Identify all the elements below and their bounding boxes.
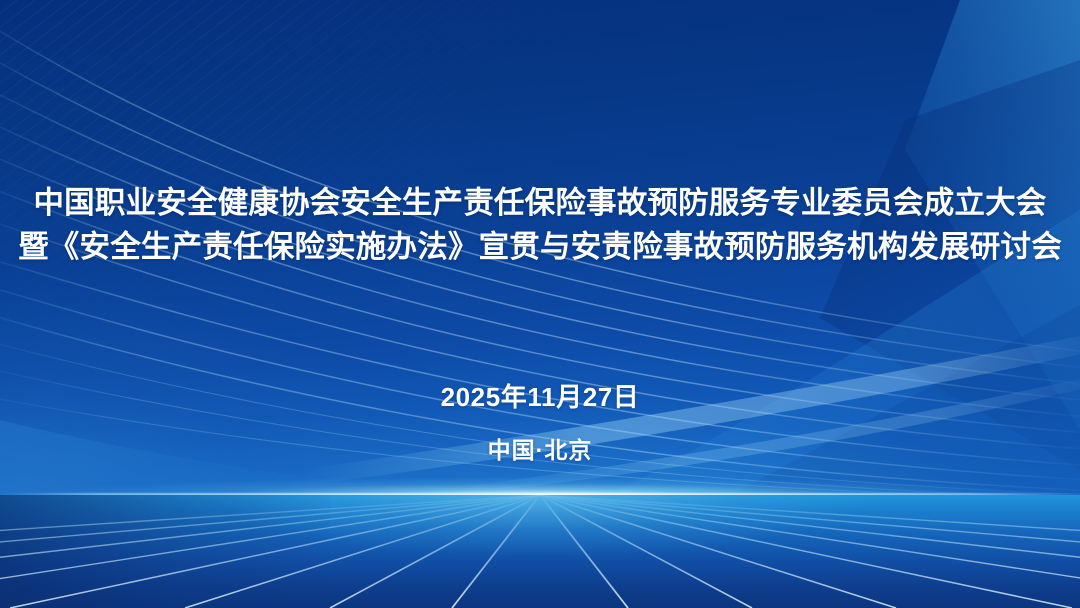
grid-radial-lines <box>0 495 1080 608</box>
perspective-grid <box>0 495 1080 608</box>
title-line-2: 暨《安全生产责任保险实施办法》宣贯与安责险事故预防服务机构发展研讨会 <box>0 225 1080 269</box>
title-line-1: 中国职业安全健康协会安全生产责任保险事故预防服务专业委员会成立大会 <box>0 181 1080 225</box>
poster-meta: 2025年11月27日 中国·北京 <box>0 380 1080 465</box>
perspective-ground <box>0 495 1080 608</box>
poster-canvas: 中国职业安全健康协会安全生产责任保险事故预防服务专业委员会成立大会 暨《安全生产… <box>0 0 1080 608</box>
event-location: 中国·北京 <box>0 435 1080 465</box>
event-date: 2025年11月27日 <box>0 380 1080 414</box>
poster-title: 中国职业安全健康协会安全生产责任保险事故预防服务专业委员会成立大会 暨《安全生产… <box>0 181 1080 269</box>
